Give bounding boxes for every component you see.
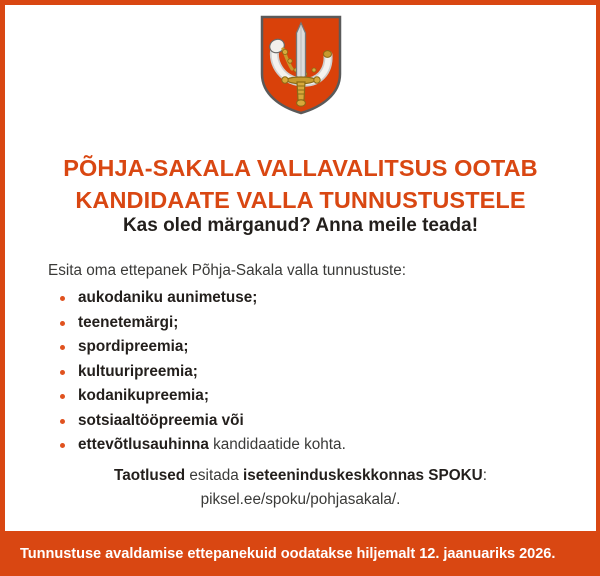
- apply-bold-2: iseteeninduskeskkonnas SPOKU: [243, 467, 483, 484]
- crest-container: [5, 14, 596, 116]
- deadline-text: Tunnustuse avaldamise ettepanekuid oodat…: [0, 546, 555, 562]
- list-item: spordipreemia;: [48, 335, 576, 360]
- award-category-list: aukodaniku aunimetuse; teenetemärgi; spo…: [48, 286, 576, 458]
- page-title: PÕHJA-SAKALA VALLAVALITSUS OOTAB KANDIDA…: [5, 152, 596, 216]
- list-item: aukodaniku aunimetuse;: [48, 286, 576, 311]
- subtitle: Kas oled märganud? Anna meile teada!: [5, 215, 596, 237]
- announcement-poster: PÕHJA-SAKALA VALLAVALITSUS OOTAB KANDIDA…: [0, 0, 600, 576]
- list-item: kultuuripreemia;: [48, 360, 576, 385]
- apply-tail: :: [483, 467, 487, 484]
- list-item-label: spordipreemia;: [78, 338, 189, 355]
- list-item: ettevõtlusauhinna kandidaatide kohta.: [48, 433, 576, 458]
- apply-mid: esitada: [185, 467, 243, 484]
- list-item-label: aukodaniku aunimetuse;: [78, 289, 257, 306]
- application-instructions: Taotlused esitada iseteeninduskeskkonnas…: [5, 464, 596, 512]
- list-item-label: ettevõtlusauhinna: [78, 436, 209, 453]
- apply-bold-1: Taotlused: [114, 467, 185, 484]
- list-item-label: kultuuripreemia;: [78, 363, 198, 380]
- intro-text: Esita oma ettepanek Põhja-Sakala valla t…: [48, 261, 576, 281]
- spoku-url[interactable]: piksel.ee/spoku/pohjasakala/.: [5, 488, 596, 512]
- list-item: kodanikupreemia;: [48, 384, 576, 409]
- list-item-label: teenetemärgi;: [78, 314, 178, 331]
- list-item: sotsiaaltööpreemia või: [48, 409, 576, 434]
- title-line-2: KANDIDAATE VALLA TUNNUSTUSTELE: [5, 184, 596, 216]
- body-block: Esita oma ettepanek Põhja-Sakala valla t…: [48, 261, 576, 458]
- list-item-suffix: kandidaatide kohta.: [209, 436, 346, 453]
- list-item-label: kodanikupreemia;: [78, 387, 209, 404]
- list-item: teenetemärgi;: [48, 311, 576, 336]
- coat-of-arms-icon: [259, 14, 343, 116]
- title-line-1: PÕHJA-SAKALA VALLAVALITSUS OOTAB: [5, 152, 596, 184]
- list-item-label: sotsiaaltööpreemia või: [78, 412, 244, 429]
- deadline-banner: Tunnustuse avaldamise ettepanekuid oodat…: [0, 531, 600, 576]
